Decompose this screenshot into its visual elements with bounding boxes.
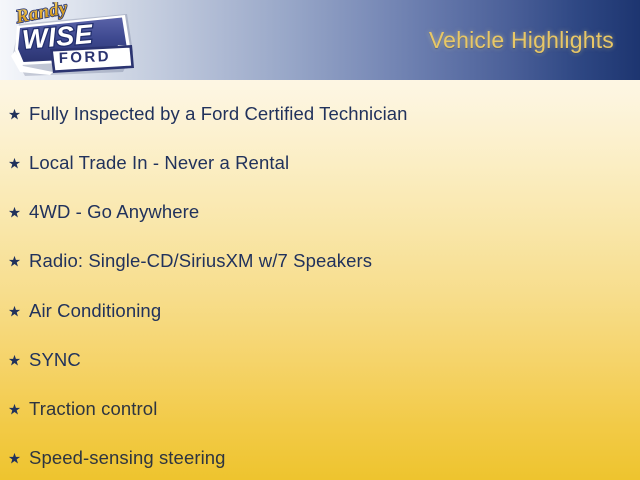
star-icon: [8, 108, 29, 121]
list-item: Local Trade In - Never a Rental: [0, 147, 289, 179]
list-item: Air Conditioning: [0, 295, 161, 327]
vehicle-highlights-slide: WISE Randy FORD Vehicle Highlights F: [0, 0, 640, 480]
list-item-label: Speed-sensing steering: [29, 449, 226, 468]
list-item: Traction control: [0, 393, 157, 425]
list-item: Fully Inspected by a Ford Certified Tech…: [0, 98, 408, 130]
list-item: SYNC: [0, 344, 81, 376]
list-item-label: 4WD - Go Anywhere: [29, 203, 199, 222]
svg-text:FORD: FORD: [59, 48, 112, 67]
star-icon: [8, 403, 29, 416]
randy-wise-ford-logo: WISE Randy FORD: [3, 2, 139, 80]
list-item-label: SYNC: [29, 351, 81, 370]
list-item: 4WD - Go Anywhere: [0, 196, 199, 228]
list-item: Radio: Single-CD/SiriusXM w/7 Speakers: [0, 245, 372, 277]
star-icon: [8, 206, 29, 219]
highlights-list: Fully Inspected by a Ford Certified Tech…: [0, 80, 640, 480]
star-icon: [8, 452, 29, 465]
list-item-label: Radio: Single-CD/SiriusXM w/7 Speakers: [29, 252, 372, 271]
list-item-label: Air Conditioning: [29, 302, 161, 321]
page-title: Vehicle Highlights: [429, 27, 614, 54]
star-icon: [8, 305, 29, 318]
star-icon: [8, 354, 29, 367]
list-item-label: Local Trade In - Never a Rental: [29, 154, 289, 173]
list-item: Speed-sensing steering: [0, 442, 226, 474]
list-item-label: Fully Inspected by a Ford Certified Tech…: [29, 105, 408, 124]
slide-header: WISE Randy FORD Vehicle Highlights: [0, 0, 640, 80]
list-item-label: Traction control: [29, 400, 157, 419]
star-icon: [8, 157, 29, 170]
star-icon: [8, 255, 29, 268]
